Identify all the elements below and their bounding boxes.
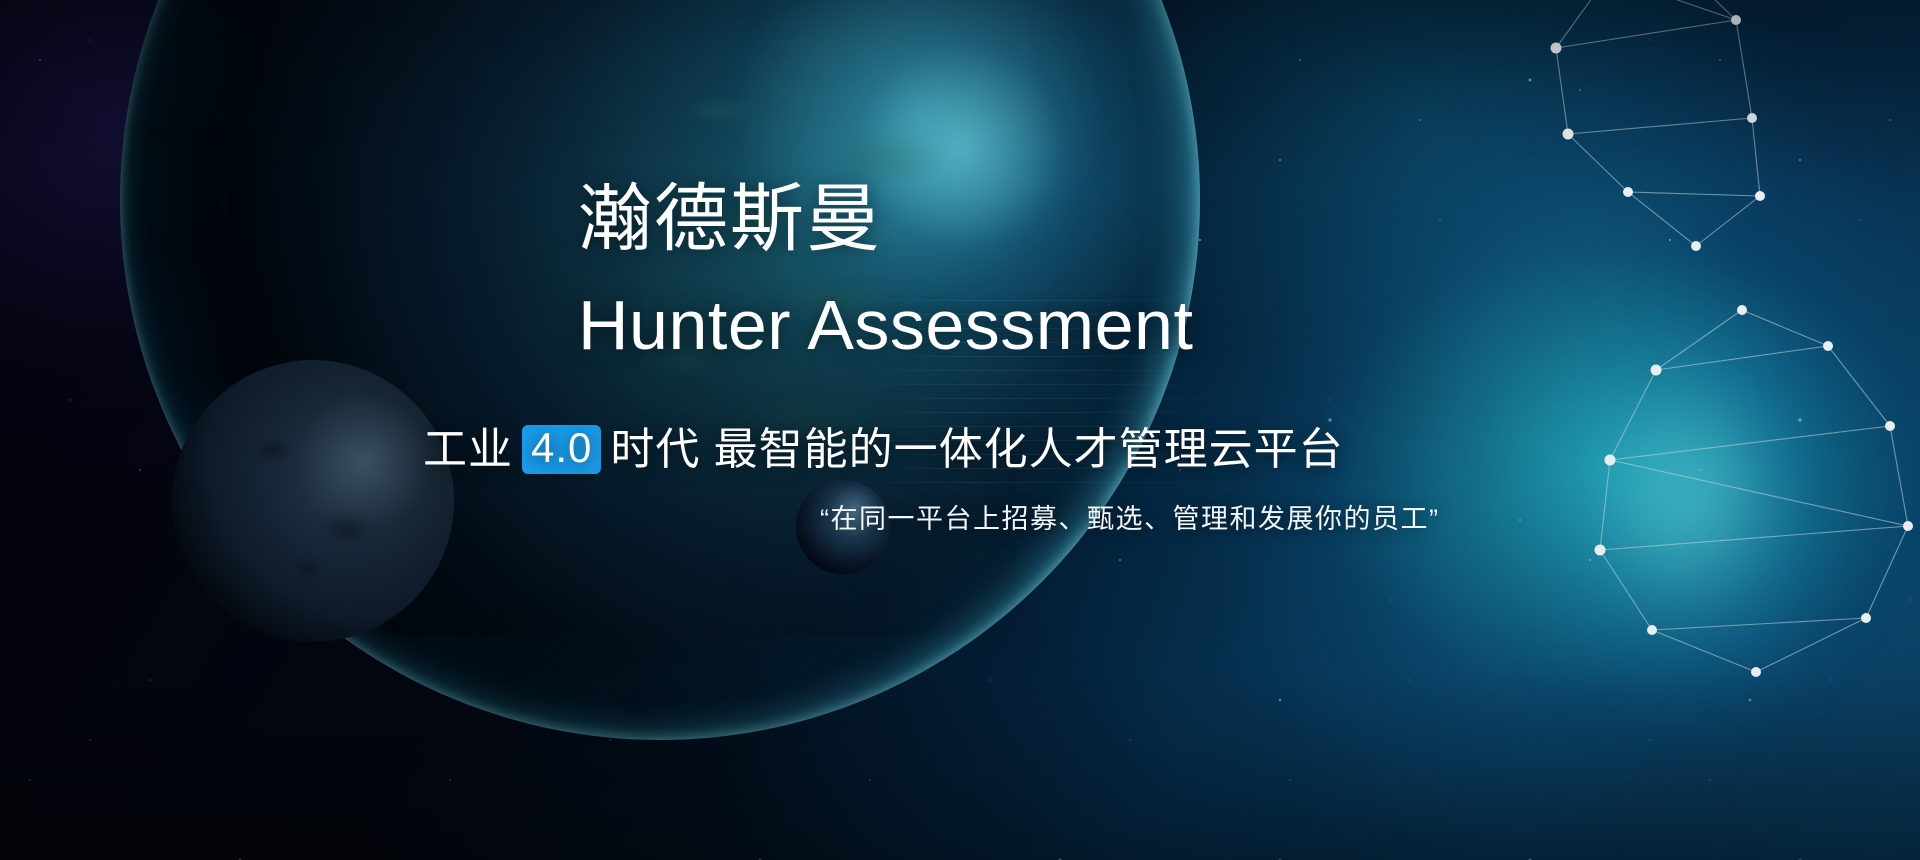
tagline-prefix: 工业: [423, 428, 513, 472]
page-title-chinese: 瀚德斯曼: [578, 182, 882, 256]
tagline: 工业 4.0 时代 最智能的一体化人才管理云平台: [423, 425, 1344, 474]
hero-banner: 瀚德斯曼 Hunter Assessment 工业 4.0 时代 最智能的一体化…: [0, 0, 1920, 860]
page-title-english: Hunter Assessment: [578, 290, 1193, 360]
industry-version-badge: 4.0: [522, 425, 601, 474]
tagline-suffix: 时代 最智能的一体化人才管理云平台: [610, 428, 1343, 472]
hero-quote: “在同一平台上招募、甄选、管理和发展你的员工”: [820, 506, 1439, 533]
hero-content: 瀚德斯曼 Hunter Assessment 工业 4.0 时代 最智能的一体化…: [0, 0, 1920, 860]
